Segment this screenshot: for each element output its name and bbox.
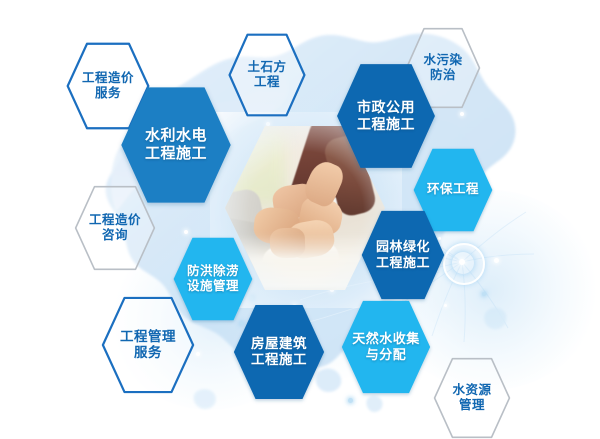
hexagon-engineering-cost-consulting[interactable]: 工程造价 咨询 <box>74 185 156 271</box>
hexagon-landscaping-engineering-construction[interactable]: 园林绿化 工程施工 <box>360 209 446 301</box>
hexagon-label: 土石方 工程 <box>247 60 286 91</box>
sparkle-dot <box>184 230 188 234</box>
hexagon-label: 水资源 管理 <box>452 383 491 414</box>
hexagon-engineering-management-service[interactable]: 工程管理 服务 <box>101 296 195 394</box>
hexagon-label: 水污染 防治 <box>423 53 462 84</box>
hexagon-label: 园林绿化 工程施工 <box>376 239 430 271</box>
sparkle-dot <box>482 292 486 296</box>
infographic-canvas: 工程造价 服务土石方 工程水污染 防治水利水电 工程施工市政公用 工程施工环保工… <box>0 0 600 439</box>
hexagon-label: 房屋建筑 工程施工 <box>251 336 307 369</box>
network-node-core <box>459 259 465 265</box>
sparkle-dot <box>444 304 447 307</box>
hexagon-label: 市政公用 工程施工 <box>357 99 415 133</box>
hexagon-label: 防洪除涝 设施管理 <box>187 264 239 295</box>
hexagon-natural-water-collection-distribution[interactable]: 天然水收集 与分配 <box>340 299 432 395</box>
hexagon-label: 环保工程 <box>427 182 479 197</box>
hexagon-earthwork-engineering[interactable]: 土石方 工程 <box>228 33 306 117</box>
hexagon-label: 工程造价 服务 <box>82 71 134 102</box>
hexagon-label: 工程管理 服务 <box>120 329 176 362</box>
hexagon-label: 天然水收集 与分配 <box>352 331 420 363</box>
sparkle-dot <box>460 112 464 116</box>
sparkle-dot <box>494 258 499 263</box>
hexagon-label: 工程造价 咨询 <box>89 213 141 244</box>
sparkle-dot <box>348 398 353 403</box>
hexagon-water-resources-management[interactable]: 水资源 管理 <box>433 357 511 439</box>
hexagon-building-construction-engineering[interactable]: 房屋建筑 工程施工 <box>232 303 326 401</box>
sparkle-dot <box>266 122 270 126</box>
hexagon-label: 水利水电 工程施工 <box>145 127 207 164</box>
sparkle-dot <box>196 352 200 356</box>
